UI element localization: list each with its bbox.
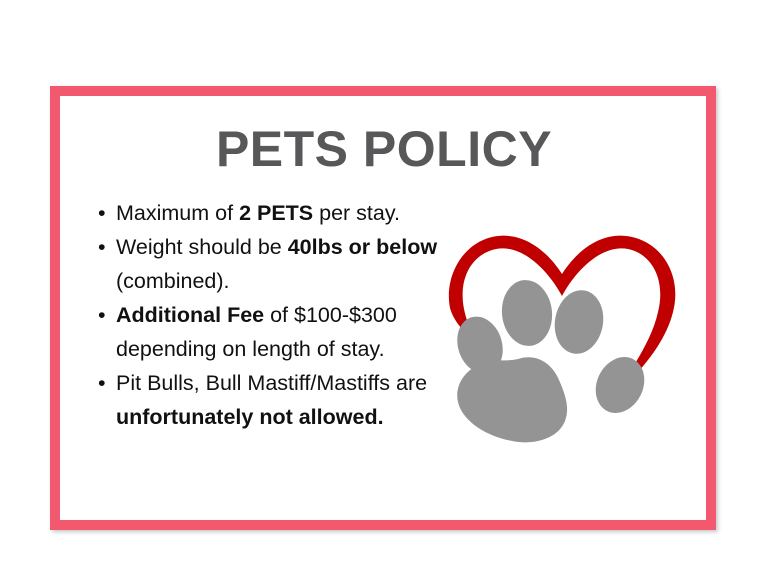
bullet-marker-icon: • [98, 196, 106, 230]
page-title: PETS POLICY [0, 124, 768, 174]
paw-print-icon [450, 278, 653, 443]
pets-policy-slide: PETS POLICY •Maximum of 2 PETS per stay.… [0, 0, 768, 576]
list-item-label: Pit Bulls, Bull Mastiff/Mastiffs are unf… [116, 371, 427, 429]
list-item: •Weight should be 40lbs or below (combin… [97, 230, 469, 298]
heart-paw-logo [440, 222, 685, 447]
bullet-marker-icon: • [98, 230, 106, 264]
list-item: •Maximum of 2 PETS per stay. [97, 196, 469, 230]
list-item-label: Maximum of 2 PETS per stay. [116, 201, 400, 225]
bullet-marker-icon: • [98, 366, 106, 400]
list-item: •Pit Bulls, Bull Mastiff/Mastiffs are un… [97, 366, 469, 434]
bullet-marker-icon: • [98, 298, 106, 332]
list-item-label: Additional Fee of $100-$300 depending on… [116, 303, 397, 361]
list-item: •Additional Fee of $100-$300 depending o… [97, 298, 469, 366]
policy-bullet-list: •Maximum of 2 PETS per stay.•Weight shou… [97, 196, 469, 434]
list-item-label: Weight should be 40lbs or below (combine… [116, 235, 437, 293]
